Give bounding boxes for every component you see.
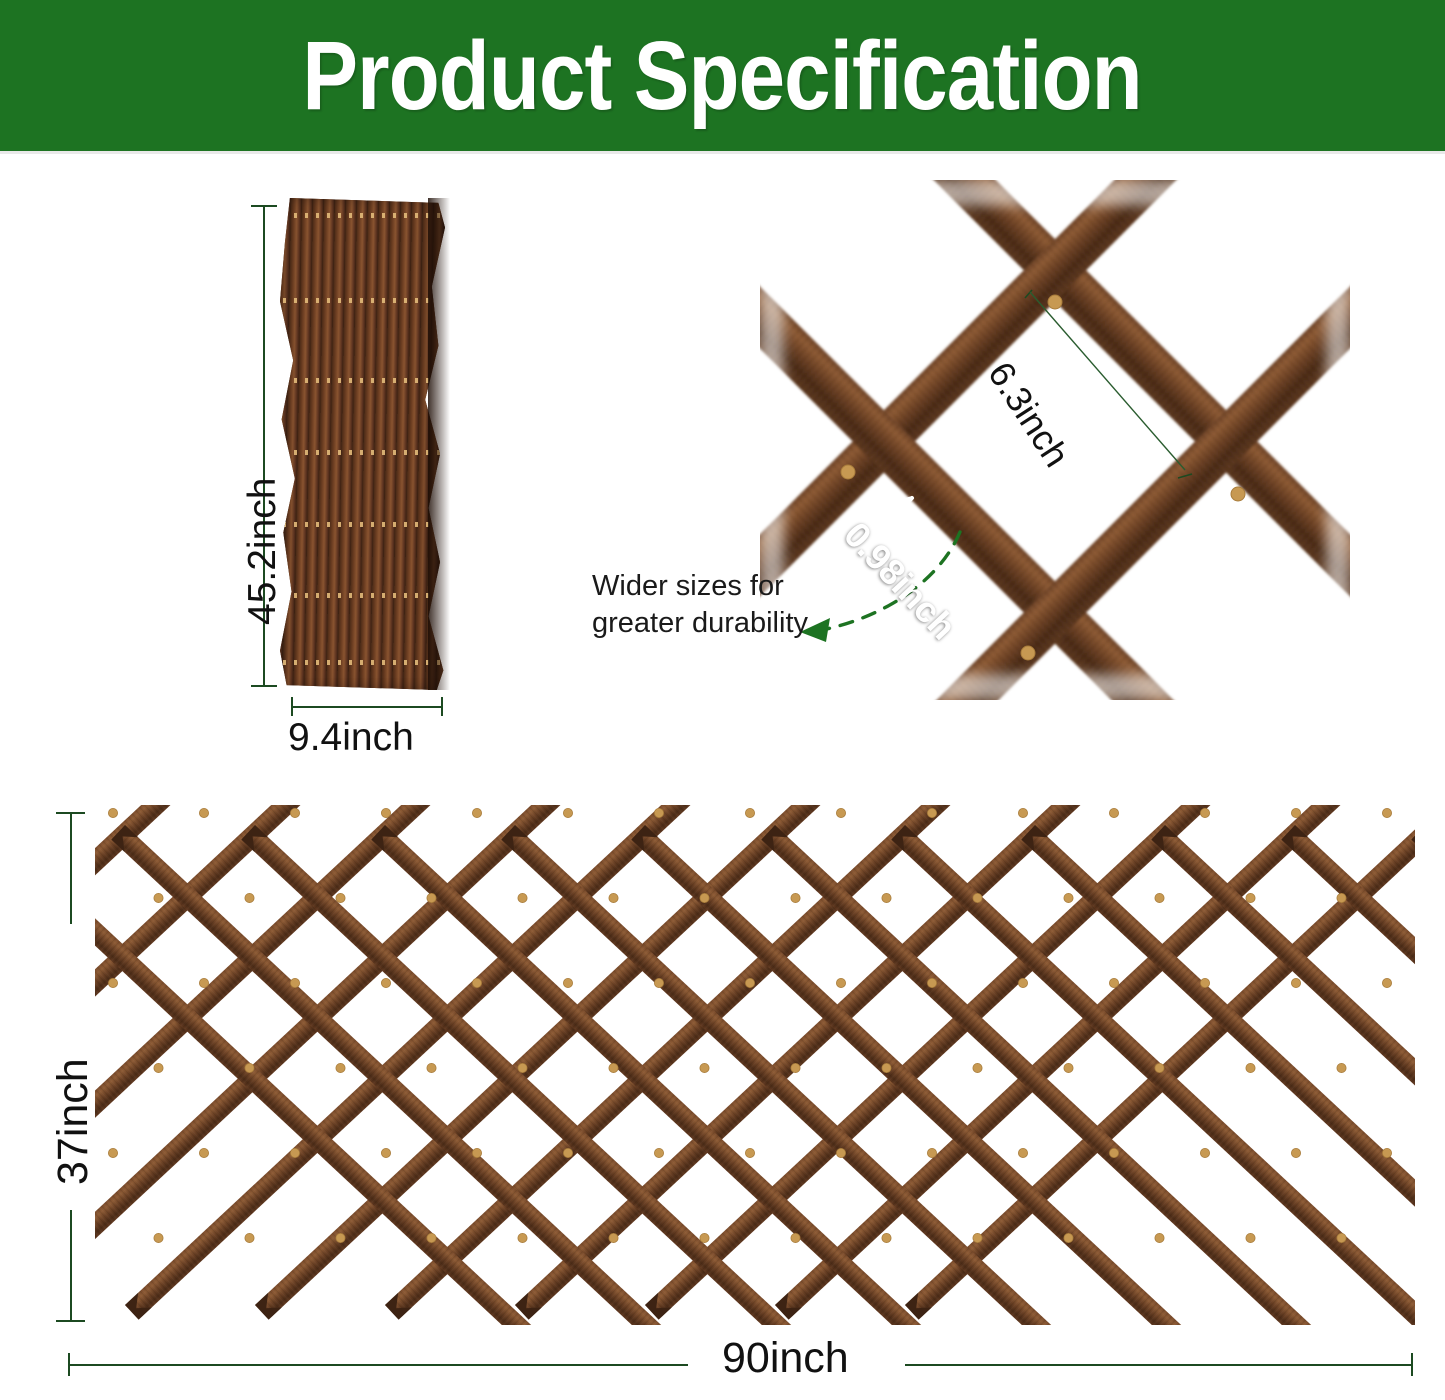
rivet: [1246, 1233, 1255, 1242]
rivet: [836, 978, 845, 987]
rivet: [1246, 1063, 1255, 1072]
rivet: [1109, 1148, 1118, 1157]
product-specification-page: Product Specification 45.2inch 9.4inc: [0, 0, 1445, 1400]
rivet: [745, 978, 754, 987]
rivet: [290, 1148, 299, 1157]
expanded-width-label: 90inch: [722, 1337, 849, 1380]
rivet: [518, 1233, 527, 1242]
folded-width-label: 9.4inch: [288, 718, 414, 757]
rivet: [427, 893, 436, 902]
rivet: [563, 808, 572, 817]
rivet: [518, 893, 527, 902]
expanded-width-tick-left: [68, 1353, 70, 1376]
rivet: [1382, 978, 1391, 987]
rivet: [973, 1063, 982, 1072]
rivet: [1064, 1233, 1073, 1242]
header-banner: Product Specification: [0, 0, 1445, 151]
rivet-row: [283, 522, 441, 527]
rivet-row: [283, 450, 441, 455]
durability-callout-line1: Wider sizes for: [592, 568, 808, 605]
rivet: [563, 1148, 572, 1157]
rivet: [1337, 893, 1346, 902]
rivet: [973, 893, 982, 902]
rivet: [1246, 893, 1255, 902]
rivet: [927, 978, 936, 987]
rivet: [1291, 808, 1300, 817]
rivet: [472, 808, 481, 817]
rivet: [882, 1063, 891, 1072]
rivet: [1155, 893, 1164, 902]
rivet: [700, 1233, 709, 1242]
rivet-row: [283, 213, 441, 218]
folded-width-tick-left: [291, 697, 293, 716]
expanded-height-dim-line-upper: [70, 812, 72, 924]
rivet: [518, 1063, 527, 1072]
expanded-height-tick-bottom: [56, 1320, 85, 1322]
durability-callout: Wider sizes for greater durability: [592, 568, 808, 642]
rivet: [973, 1233, 982, 1242]
expanded-width-dim-line-right: [905, 1364, 1413, 1366]
rivet: [609, 893, 618, 902]
rivet: [609, 1233, 618, 1242]
rivet: [1064, 893, 1073, 902]
rivet: [199, 978, 208, 987]
rivet: [245, 1063, 254, 1072]
rivet: [336, 1233, 345, 1242]
expanded-height-tick-top: [56, 812, 85, 814]
rivet: [1200, 978, 1209, 987]
folded-width-dim-line: [291, 706, 443, 708]
rivet: [154, 1233, 163, 1242]
rivet: [1109, 978, 1118, 987]
rivet: [836, 808, 845, 817]
rivet: [654, 808, 663, 817]
rivet: [836, 1148, 845, 1157]
rivet: [927, 1148, 936, 1157]
rivet-row: [283, 378, 441, 383]
rivet: [791, 1063, 800, 1072]
rivet: [927, 808, 936, 817]
expanded-trellis-svg: {}: [95, 805, 1415, 1325]
rivet: [199, 808, 208, 817]
rivet: [427, 1233, 436, 1242]
rivet: [882, 1233, 891, 1242]
rivet: [1337, 1233, 1346, 1242]
lattice-closeup-section: 6.3inch 0.98inch: [760, 180, 1350, 700]
rivet: [1291, 1148, 1300, 1157]
header-divider: [0, 151, 1445, 154]
rivet: [654, 978, 663, 987]
rivet: [381, 1148, 390, 1157]
descending-slat-group: [95, 825, 1415, 1325]
rivet: [290, 978, 299, 987]
folded-width-tick-right: [441, 697, 443, 716]
rivet: [1291, 978, 1300, 987]
rivet: [791, 893, 800, 902]
rivet: [791, 1233, 800, 1242]
folded-trellis-body: [280, 198, 445, 690]
rivet-row: [283, 660, 441, 665]
folded-height-label: 45.2inch: [243, 478, 282, 625]
folded-trellis-image: [280, 198, 445, 690]
rivet: [427, 1063, 436, 1072]
rivet: [199, 1148, 208, 1157]
rivet-row: [283, 298, 441, 303]
expanded-width-dim-line-left: [68, 1364, 688, 1366]
rivet-row: [283, 593, 441, 598]
rivet: [1064, 1063, 1073, 1072]
rivet: [1155, 1233, 1164, 1242]
rivet: [381, 808, 390, 817]
rivet: [108, 1148, 117, 1157]
page-title: Product Specification: [303, 27, 1142, 124]
rivet: [700, 893, 709, 902]
rivet: [336, 1063, 345, 1072]
rivet: [1018, 978, 1027, 987]
rivet: [1382, 1148, 1391, 1157]
rivet: [245, 893, 254, 902]
rivet: [290, 808, 299, 817]
folded-height-tick-bottom: [251, 685, 277, 687]
rivet: [654, 1148, 663, 1157]
rivet: [1337, 1063, 1346, 1072]
rivet: [154, 893, 163, 902]
expanded-width-tick-right: [1411, 1353, 1413, 1376]
rivet: [1155, 1063, 1164, 1072]
rivet: [1382, 808, 1391, 817]
rivet: [1200, 808, 1209, 817]
rivet: [472, 1148, 481, 1157]
expanded-trellis-image: {}: [95, 805, 1415, 1325]
rivet: [700, 1063, 709, 1072]
folded-height-tick-top: [251, 205, 277, 207]
expanded-height-dim-line-lower: [70, 1210, 72, 1322]
rivet: [745, 808, 754, 817]
durability-callout-line2: greater durability: [592, 605, 808, 642]
rivet: [336, 893, 345, 902]
rivet: [381, 978, 390, 987]
expanded-height-label: 37inch: [52, 1058, 95, 1185]
rivet: [154, 1063, 163, 1072]
rivet: [108, 978, 117, 987]
rivet: [563, 978, 572, 987]
rivet: [1109, 808, 1118, 817]
rivet: [1200, 1148, 1209, 1157]
rivet: [609, 1063, 618, 1072]
rivet: [882, 893, 891, 902]
rivet: [245, 1233, 254, 1242]
rivet: [745, 1148, 754, 1157]
rivet: [1018, 808, 1027, 817]
rivet: [1018, 1148, 1027, 1157]
rivet: [108, 808, 117, 817]
rivet: [472, 978, 481, 987]
